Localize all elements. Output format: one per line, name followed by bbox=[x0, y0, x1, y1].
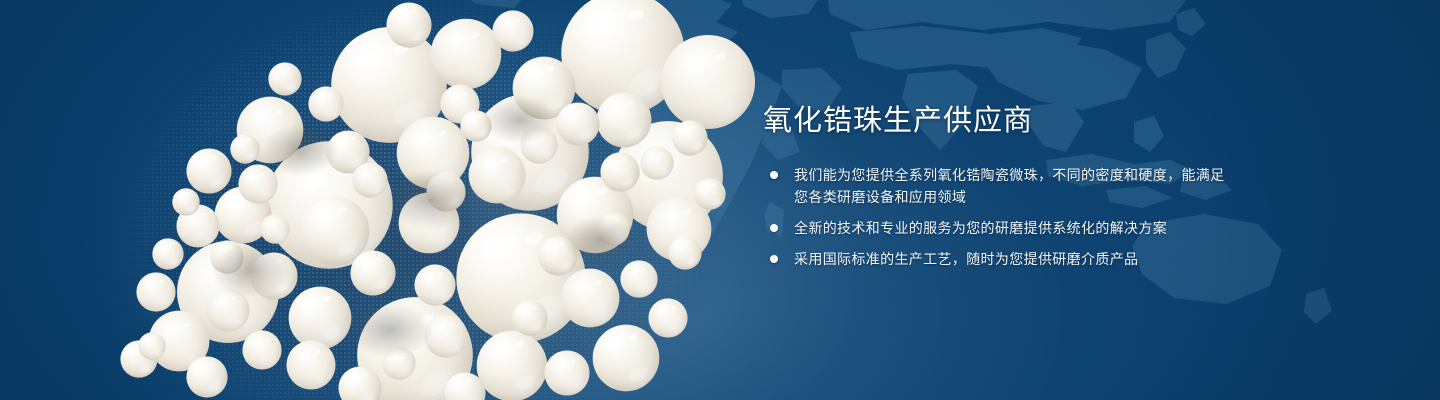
hero-banner: 氧化锆珠生产供应商 我们能为您提供全系列氧化锆陶瓷微珠，不同的密度和硬度，能满足… bbox=[0, 0, 1440, 400]
bullet-dot-icon bbox=[770, 224, 778, 232]
list-item: 我们能为您提供全系列氧化锆陶瓷微珠，不同的密度和硬度，能满足您各类研磨设备和应用… bbox=[763, 164, 1233, 208]
list-item: 全新的技术和专业的服务为您的研磨提供系统化的解决方案 bbox=[763, 217, 1233, 239]
banner-bullet-list: 我们能为您提供全系列氧化锆陶瓷微珠，不同的密度和硬度，能满足您各类研磨设备和应用… bbox=[763, 164, 1233, 270]
banner-copy-block: 氧化锆珠生产供应商 我们能为您提供全系列氧化锆陶瓷微珠，不同的密度和硬度，能满足… bbox=[763, 104, 1233, 270]
list-item: 采用国际标准的生产工艺，随时为您提供研磨介质产品 bbox=[763, 248, 1233, 270]
bullet-dot-icon bbox=[770, 255, 778, 263]
bullet-text: 我们能为您提供全系列氧化锆陶瓷微珠，不同的密度和硬度，能满足您各类研磨设备和应用… bbox=[794, 164, 1233, 208]
bullet-text: 采用国际标准的生产工艺，随时为您提供研磨介质产品 bbox=[794, 248, 1233, 270]
banner-headline: 氧化锆珠生产供应商 bbox=[763, 104, 1233, 138]
zirconia-bead-cluster-image bbox=[0, 0, 740, 400]
bullet-text: 全新的技术和专业的服务为您的研磨提供系统化的解决方案 bbox=[794, 217, 1233, 239]
bullet-dot-icon bbox=[770, 171, 778, 179]
